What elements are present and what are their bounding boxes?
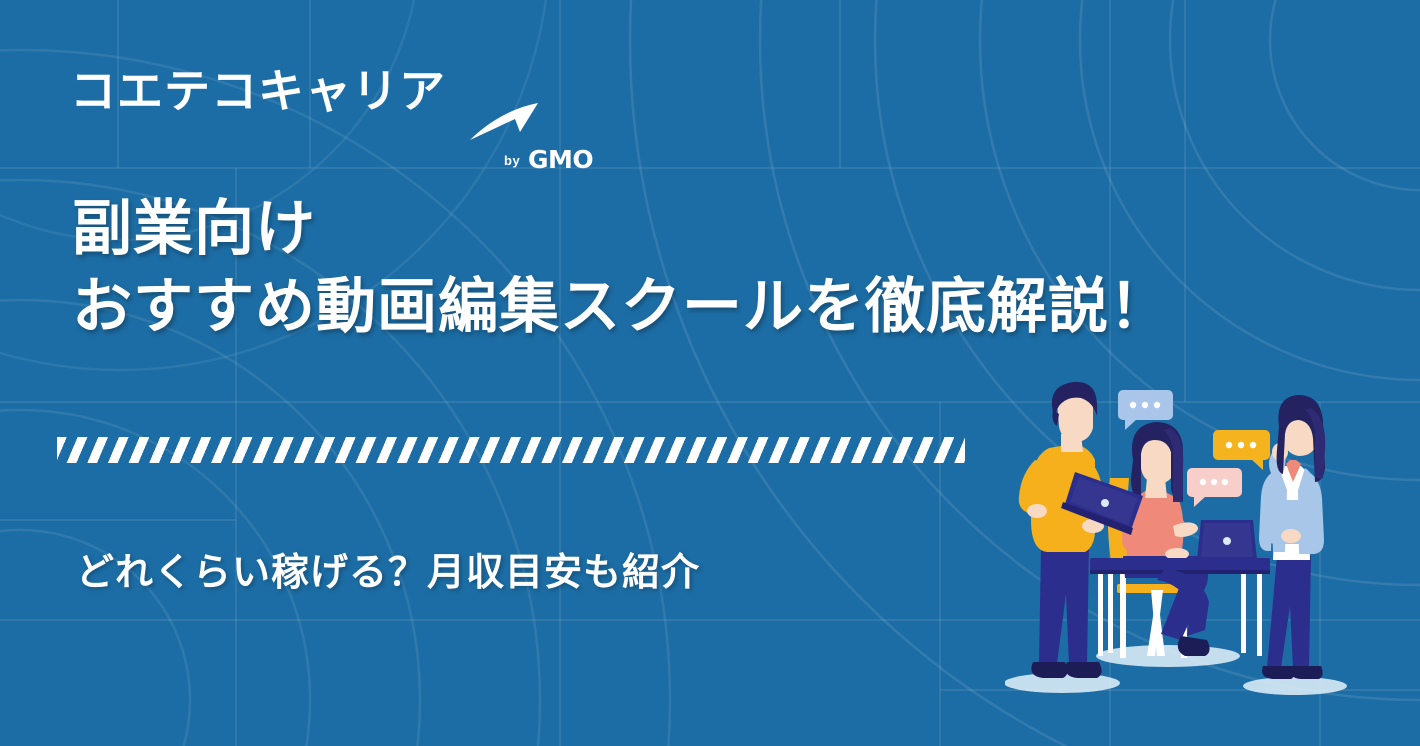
article-hero-banner: コエテコキャリア by GMO 副業向け おすすめ動画編集スクールを徹底解説！ … [0,0,1420,746]
headline-line-1: 副業向け [72,190,1252,268]
page-title: 副業向け おすすめ動画編集スクールを徹底解説！ [72,190,1252,346]
site-logo[interactable]: コエテコキャリア by GMO [70,57,550,135]
speech-bubble-pink [1187,468,1242,507]
three-people-meeting-illustration [1005,378,1365,708]
speech-bubble-yellow [1213,430,1270,470]
logo-brand-text: コエテコキャリア [70,63,446,119]
floor-shadow-center [1096,645,1240,667]
headline-line-2: おすすめ動画編集スクールを徹底解説！ [72,268,1252,346]
page-subtitle: どれくらい稼げる？月収目安も紹介 [76,545,700,599]
logo-by-label: by [504,153,520,168]
striped-divider [57,437,965,463]
arrow-swoosh-icon [468,102,540,142]
laptop-on-table [1189,520,1263,564]
floor-shadow-right [1243,677,1347,695]
logo-gmo-text: GMO [528,145,593,174]
